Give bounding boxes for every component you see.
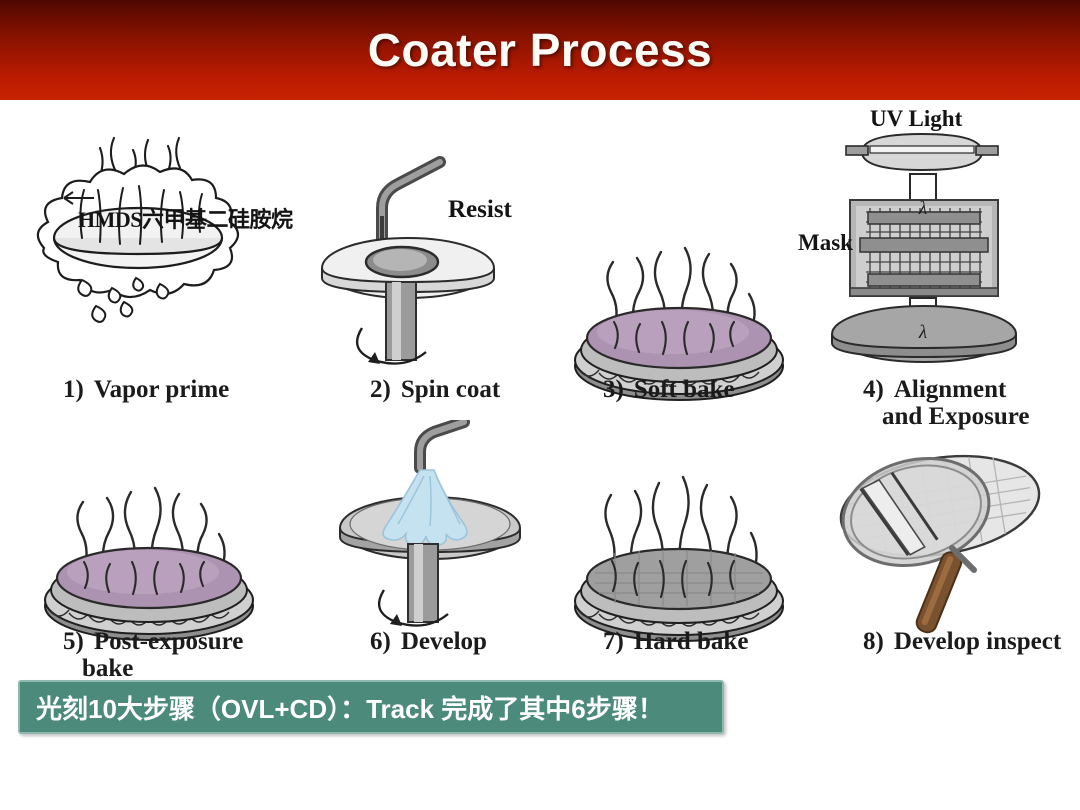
step-2-number: 2)	[370, 376, 391, 403]
step-6-label: Develop	[401, 628, 487, 655]
step-2-caption: 2)Spin coat	[345, 348, 500, 431]
step-5-label-line2: bake	[38, 655, 243, 683]
step-4-annotation-mask: Mask	[798, 230, 853, 256]
step-4-label-line2: and Exposure	[838, 403, 1030, 431]
step-3-label: Soft bake	[634, 376, 735, 403]
step-6-caption: 6)Develop	[345, 600, 487, 683]
step-6-number: 6)	[370, 628, 391, 655]
step-8-label: Develop inspect	[894, 628, 1061, 655]
step-2-annotation: Resist	[448, 196, 512, 224]
svg-text:λ: λ	[918, 198, 927, 219]
page-title: Coater Process	[368, 23, 713, 77]
summary-callout-text: 光刻10大步骤（OVL+CD）：Track 完成了其中6步骤！	[20, 689, 664, 726]
step-4-annotation-uv: UV Light	[870, 106, 962, 132]
summary-callout: 光刻10大步骤（OVL+CD）：Track 完成了其中6步骤！	[18, 680, 724, 734]
spin-chuck-nozzle-icon	[320, 150, 570, 380]
step-5-number: 5)	[63, 628, 84, 655]
step-1-annotation: HMDS六甲基二硅胺烷	[78, 202, 293, 234]
step-3-number: 3)	[603, 376, 624, 403]
step-7-caption: 7)Hard bake	[578, 600, 748, 683]
step-1-label: Vapor prime	[94, 376, 229, 403]
step-8-number: 8)	[863, 628, 884, 655]
title-banner: Coater Process	[0, 0, 1080, 100]
step-2-label: Spin coat	[401, 376, 500, 403]
step-4-number: 4)	[863, 376, 884, 403]
step-5-label: Post-exposure	[94, 628, 244, 655]
wafer-vapor-cloud-icon	[20, 120, 320, 370]
step-4-label: Alignment	[894, 376, 1007, 403]
step-7-label: Hard bake	[634, 628, 749, 655]
svg-text:λ: λ	[918, 322, 927, 343]
step-1-caption: 1)Vapor prime	[38, 348, 229, 431]
step-7-number: 7)	[603, 628, 624, 655]
step-8-caption: 8)Develop inspect	[838, 600, 1061, 683]
step-1-number: 1)	[63, 376, 84, 403]
